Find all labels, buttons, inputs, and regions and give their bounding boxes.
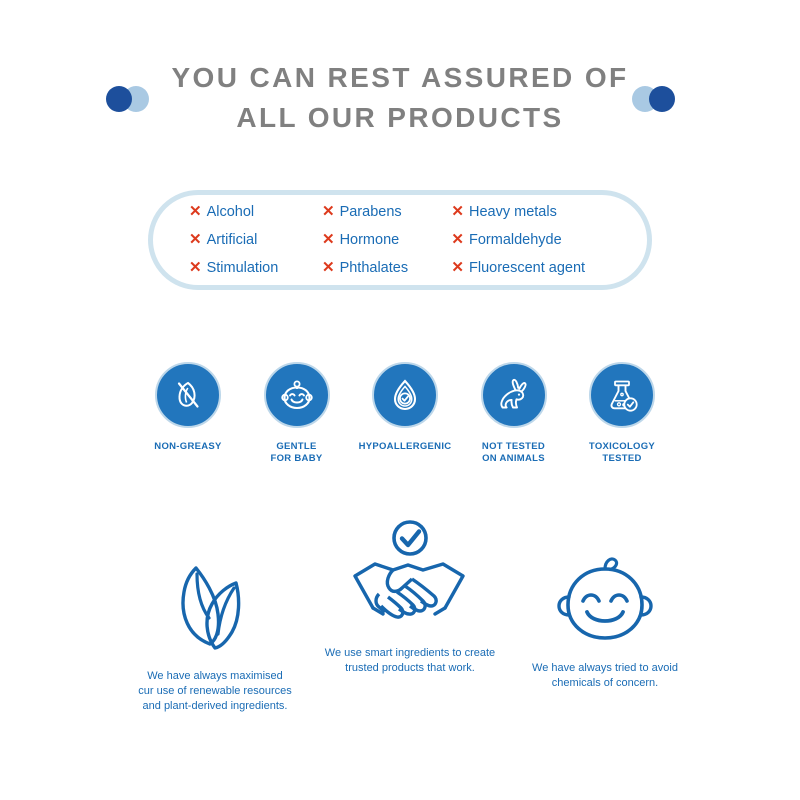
flask-check-icon (602, 375, 642, 415)
badge-toxicology-tested: TOXICOLOGY TESTED (574, 362, 670, 465)
rabbit-icon (493, 374, 535, 416)
free-from-label: Formaldehyde (469, 228, 562, 253)
badge-label: NON-GREASY (154, 441, 221, 453)
badge-label: GENTLE FOR BABY (270, 441, 322, 465)
cross-mark-icon: ✕ (451, 227, 464, 252)
badge-non-greasy: NON-GREASY (140, 362, 236, 465)
two-leaves-icon (160, 556, 270, 661)
free-from-label: Fluorescent agent (469, 256, 585, 281)
droplet-check-icon (385, 375, 425, 415)
decor-dot-dark-icon (649, 86, 675, 112)
cross-mark-icon: ✕ (189, 255, 202, 280)
baby-face-icon (276, 374, 318, 416)
badge-circle (264, 362, 330, 428)
feature-avoid-chemicals: We have always tried to avoid chemicals … (510, 548, 700, 691)
badge-circle (372, 362, 438, 428)
feature-smart-ingredients: We use smart ingredients to create trust… (315, 518, 505, 676)
free-from-label: Heavy metals (469, 200, 557, 225)
cross-mark-icon: ✕ (322, 255, 335, 280)
badge-label: HYPOALLERGENIC (359, 441, 452, 453)
feature-caption: We have always maximised cur use of rene… (138, 669, 291, 714)
free-from-label: Parabens (340, 200, 402, 225)
free-from-item: ✕ Parabens (322, 199, 451, 225)
feature-renewable-resources: We have always maximised cur use of rene… (120, 556, 310, 714)
smiling-baby-face-icon (548, 548, 663, 653)
decorative-dots-right (632, 86, 694, 112)
badge-gentle-for-baby: GENTLE FOR BABY (249, 362, 345, 465)
badge-circle (589, 362, 655, 428)
decor-dot-dark-icon (106, 86, 132, 112)
feature-statements-row: We have always maximised cur use of rene… (110, 518, 690, 718)
free-from-column: ✕ Parabens ✕ Hormone ✕ Phthalates (322, 199, 451, 281)
free-from-item: ✕ Heavy metals (451, 199, 611, 225)
feature-caption: We have always tried to avoid chemicals … (532, 661, 678, 691)
free-from-ingredients-box: ✕ Alcohol ✕ Artificial ✕ Stimulation ✕ P… (148, 190, 652, 290)
handshake-check-icon (335, 518, 485, 638)
free-from-item: ✕ Stimulation (189, 255, 322, 281)
free-from-column: ✕ Heavy metals ✕ Formaldehyde ✕ Fluoresc… (451, 199, 611, 281)
free-from-item: ✕ Alcohol (189, 199, 322, 225)
free-from-item: ✕ Phthalates (322, 255, 451, 281)
cross-mark-icon: ✕ (189, 199, 202, 224)
badge-not-tested-on-animals: NOT TESTED ON ANIMALS (466, 362, 562, 465)
feature-icon-wrap (160, 556, 270, 661)
feature-caption: We use smart ingredients to create trust… (325, 646, 495, 676)
cross-mark-icon: ✕ (322, 199, 335, 224)
feature-icon-wrap (335, 518, 485, 638)
badge-circle (481, 362, 547, 428)
badge-label: NOT TESTED ON ANIMALS (482, 441, 545, 465)
badge-hypoallergenic: HYPOALLERGENIC (357, 362, 453, 465)
free-from-label: Hormone (340, 228, 400, 253)
free-from-label: Artificial (207, 228, 258, 253)
cross-mark-icon: ✕ (451, 199, 464, 224)
cross-mark-icon: ✕ (451, 255, 464, 280)
decorative-dots-left (106, 86, 168, 112)
certification-badges-row: NON-GREASY GENTLE FOR BABY (140, 362, 670, 465)
free-from-item: ✕ Formaldehyde (451, 227, 611, 253)
free-from-label: Phthalates (340, 256, 409, 281)
cross-mark-icon: ✕ (322, 227, 335, 252)
badge-label: TOXICOLOGY TESTED (589, 441, 655, 465)
feature-icon-wrap (548, 548, 663, 653)
free-from-column: ✕ Alcohol ✕ Artificial ✕ Stimulation (189, 199, 322, 281)
badge-circle (155, 362, 221, 428)
cross-mark-icon: ✕ (189, 227, 202, 252)
free-from-item: ✕ Artificial (189, 227, 322, 253)
leaf-crossed-out-icon (168, 375, 208, 415)
free-from-item: ✕ Fluorescent agent (451, 255, 611, 281)
free-from-item: ✕ Hormone (322, 227, 451, 253)
free-from-label: Alcohol (207, 200, 255, 225)
free-from-label: Stimulation (207, 256, 279, 281)
